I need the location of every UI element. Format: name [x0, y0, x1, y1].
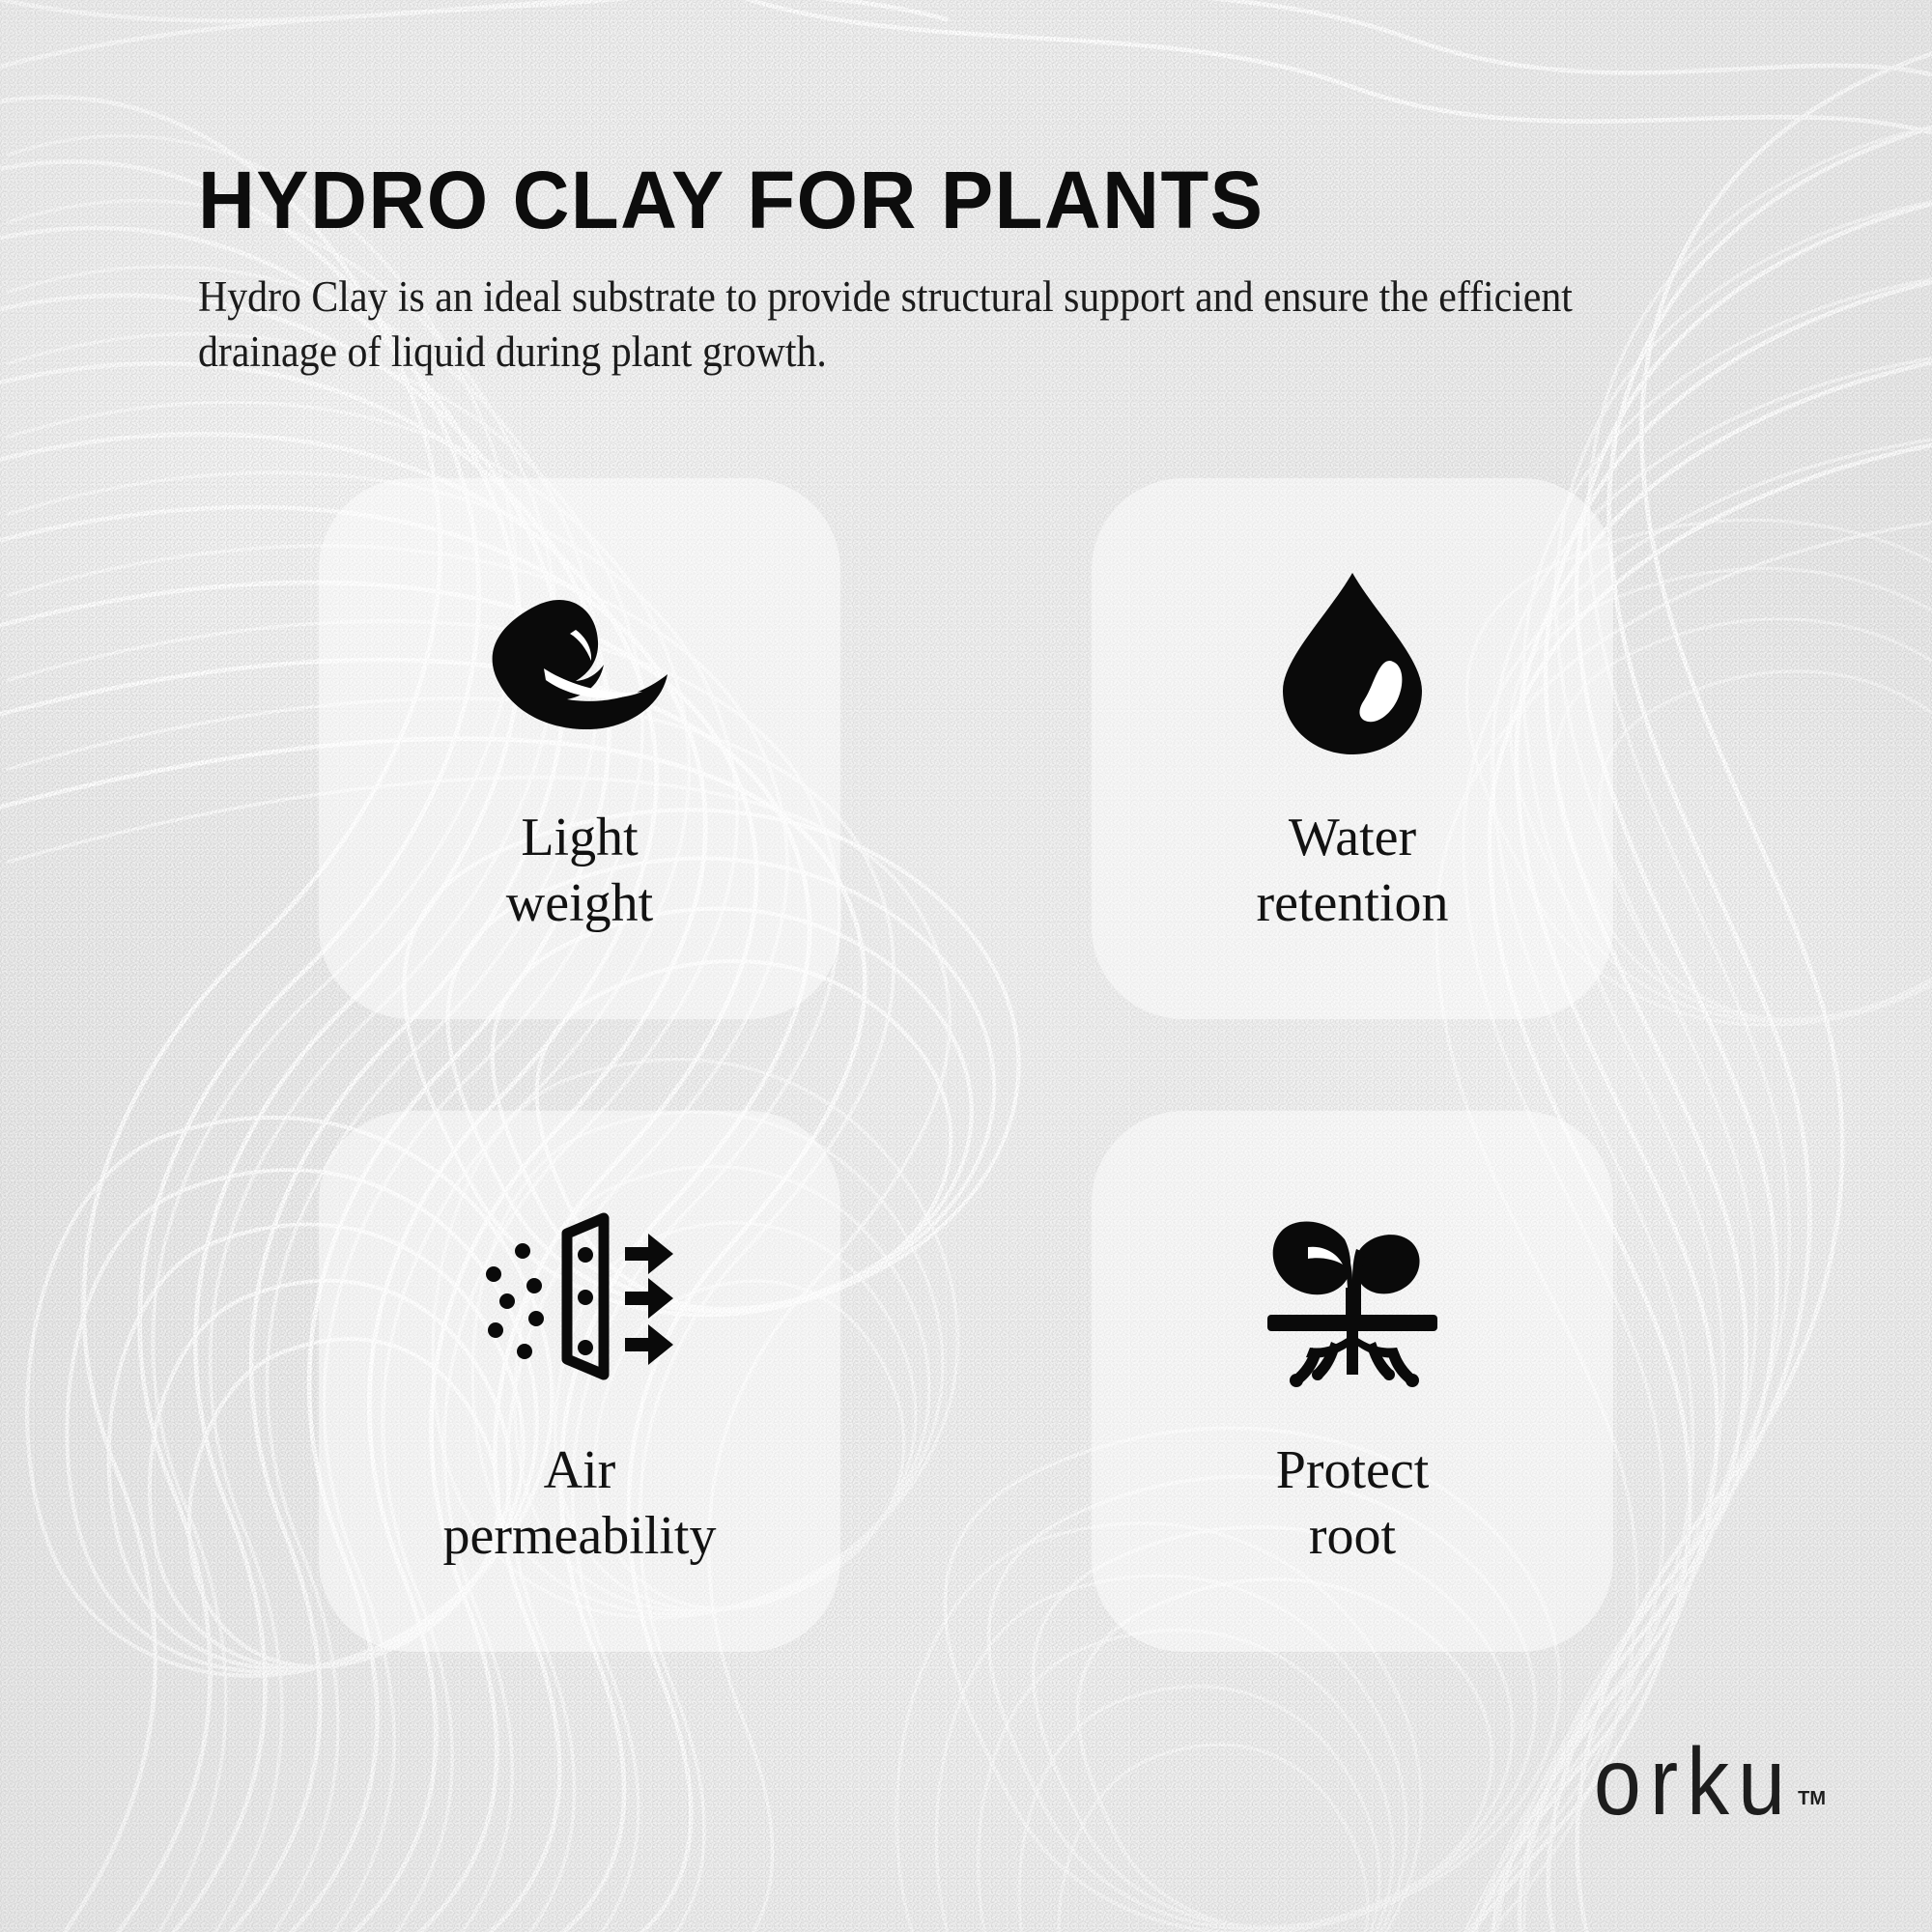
feature-card-air-permeability[interactable]: Air permeability — [319, 1111, 840, 1652]
poster-canvas: HYDRO CLAY FOR PLANTS Hydro Clay is an i… — [0, 0, 1932, 1932]
seedling-root-icon — [1241, 1200, 1463, 1393]
feather-icon — [469, 567, 691, 760]
air-permeability-icon — [469, 1200, 691, 1393]
page-subtitle: Hydro Clay is an ideal substrate to prov… — [198, 270, 1635, 380]
brand-logo: orku TM — [1594, 1747, 1826, 1824]
page-title: HYDRO CLAY FOR PLANTS — [198, 159, 1791, 241]
brand-name: orku — [1594, 1738, 1794, 1824]
feature-card-grid: Light weight Water retention — [319, 478, 1623, 1652]
feature-label: Air permeability — [442, 1437, 716, 1570]
feature-label: Water retention — [1256, 805, 1448, 937]
trademark-symbol: TM — [1798, 1788, 1826, 1810]
feature-card-water-retention[interactable]: Water retention — [1092, 478, 1613, 1019]
header: HYDRO CLAY FOR PLANTS Hydro Clay is an i… — [198, 159, 1840, 380]
feature-label: Light weight — [506, 805, 653, 937]
feature-label: Protect root — [1276, 1437, 1430, 1570]
water-drop-icon — [1241, 567, 1463, 760]
feature-card-light-weight[interactable]: Light weight — [319, 478, 840, 1019]
feature-card-protect-root[interactable]: Protect root — [1092, 1111, 1613, 1652]
